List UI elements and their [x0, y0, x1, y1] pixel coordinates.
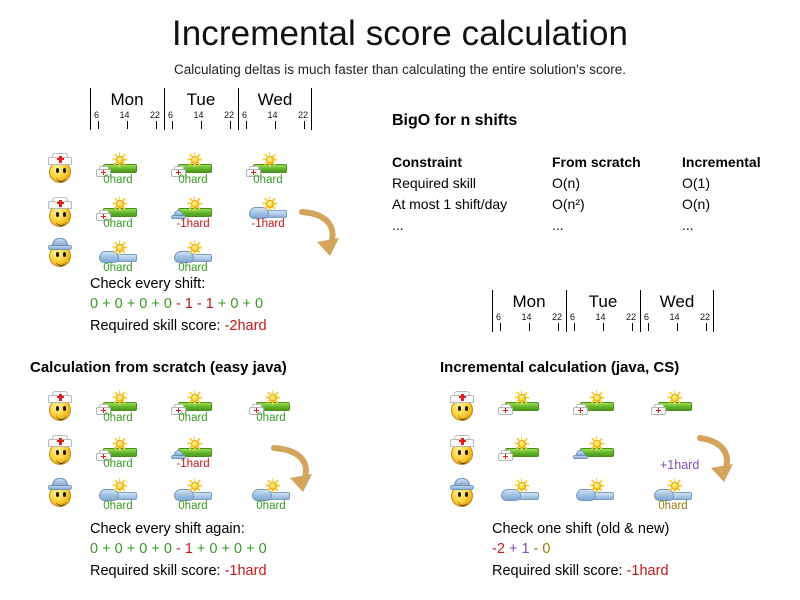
sum-token: + [243, 296, 251, 312]
calendar-day-name: Wed [640, 290, 714, 312]
calendar-hour-tick-label: 22 [150, 110, 160, 121]
employee-avatar-builder[interactable] [47, 234, 73, 267]
shift-chip[interactable] [497, 390, 543, 424]
calendar-day-tue: Tue61422 [164, 88, 238, 130]
calendar-ticks [90, 121, 164, 130]
skill-badge-nurse [573, 404, 588, 415]
calendar-day-wed: Wed61422 [640, 290, 714, 332]
sun-icon [112, 436, 127, 451]
calendar-day-name: Mon [492, 290, 566, 312]
shift-score-label: 0hard [95, 218, 141, 230]
check-every-shift-label: Check every shift: [90, 274, 205, 294]
shift-chip[interactable]: 0hard [95, 240, 141, 274]
shift-score-label: 0hard [95, 262, 141, 274]
sun-icon [112, 196, 127, 211]
calendar-day-mon: Mon61422 [90, 88, 164, 130]
sun-icon [112, 478, 127, 493]
sun-icon [589, 478, 604, 493]
sun-icon [262, 196, 277, 211]
calendar-hour-tick-label: 6 [570, 312, 575, 323]
shift-score-label: 0hard [650, 500, 696, 512]
score-label: Required skill score: [492, 563, 623, 579]
shift-chip[interactable] [497, 436, 543, 470]
score-value: -1hard [627, 563, 669, 579]
bigo-cell: ... [552, 215, 682, 236]
sum-token: 1 [185, 296, 193, 312]
sum-token: + [197, 541, 205, 557]
shift-chip[interactable]: 0hard [95, 478, 141, 512]
shift-chip[interactable]: 0hard [170, 390, 216, 424]
sum-token: + [151, 541, 159, 557]
nurse-hat-icon [48, 435, 72, 447]
sum-token: 0 [234, 541, 242, 557]
shift-chip[interactable] [572, 478, 618, 512]
bigo-cell: O(n) [682, 194, 792, 215]
calendar-day-name: Mon [90, 88, 164, 110]
shift-chip[interactable] [572, 436, 618, 470]
calendar-ticks [492, 323, 566, 332]
employee-avatar-nurse[interactable] [449, 432, 475, 465]
calendar-hour-tick-label: 22 [298, 110, 308, 121]
sum-token: - [176, 296, 181, 312]
sun-icon [262, 152, 277, 167]
bigo-row: ......... [392, 215, 792, 236]
calendar-day-wed: Wed61422 [238, 88, 312, 130]
shift-chip[interactable]: 0hard [245, 152, 291, 186]
nurse-hat-icon [48, 153, 72, 165]
shift-score-label: -1hard [170, 218, 216, 230]
hard-hat-icon [48, 238, 72, 250]
calendar-day-name: Tue [566, 290, 640, 312]
sun-icon [187, 152, 202, 167]
calendar-hour-tick-label: 14 [119, 110, 129, 121]
calendar-hour-tick-label: 22 [700, 312, 710, 323]
shift-score-label: 0hard [95, 174, 141, 186]
sun-icon [112, 152, 127, 167]
bigo-header-cell: From scratch [552, 152, 682, 173]
sun-icon [187, 478, 202, 493]
bigo-cell: O(n) [552, 173, 682, 194]
calendar-ticks [238, 121, 312, 130]
hard-hat-icon [48, 478, 72, 490]
calendar-header-top: Mon61422Tue61422Wed61422 [90, 88, 312, 130]
calendar-hour-tick-label: 22 [552, 312, 562, 323]
calendar-day-name: Wed [238, 88, 312, 110]
bigo-header-row: ConstraintFrom scratchIncremental [392, 152, 792, 173]
bigo-title: BigO for n shifts [392, 112, 517, 130]
calendar-hour-tick-label: 14 [193, 110, 203, 121]
shift-chip[interactable]: -1hard [245, 196, 291, 230]
shift-score-label: 0hard [95, 500, 141, 512]
calendar-hour-tick-label: 6 [644, 312, 649, 323]
sun-icon [187, 436, 202, 451]
sum-token: + [246, 541, 254, 557]
skill-badge-nurse [498, 404, 513, 415]
nurse-hat-icon [450, 435, 474, 447]
page-subtitle: Calculating deltas is much faster than c… [0, 62, 800, 77]
shift-chip[interactable]: -1hard [170, 436, 216, 470]
sum-token: 0 [164, 296, 172, 312]
shift-chip[interactable]: 0hard [170, 152, 216, 186]
calendar-hour-tick-label: 6 [242, 110, 247, 121]
calendar-hour-tick-label: 14 [267, 110, 277, 121]
shift-chip[interactable] [572, 390, 618, 424]
skill-badge-builder [573, 450, 588, 461]
calendar-day-tue: Tue61422 [566, 290, 640, 332]
bigo-cell: O(n²) [552, 194, 682, 215]
bigo-cell: At most 1 shift/day [392, 194, 552, 215]
shift-chip[interactable] [497, 478, 543, 512]
calendar-hour-tick-label: 22 [626, 312, 636, 323]
sum-token: 0 [115, 541, 123, 557]
nurse-hat-icon [450, 391, 474, 403]
calendar-day-name: Tue [164, 88, 238, 110]
bigo-cell: ... [682, 215, 792, 236]
sum-token: -2 [492, 541, 505, 557]
sum-token: + [102, 541, 110, 557]
bigo-header-cell: Constraint [392, 152, 552, 173]
employee-avatar-nurse[interactable] [47, 432, 73, 465]
shift-chip[interactable]: -1hard [170, 196, 216, 230]
score-label: Required skill score: [90, 563, 221, 579]
calendar-ticks [566, 323, 640, 332]
employee-avatar-nurse[interactable] [47, 150, 73, 183]
bigo-cell: ... [392, 215, 552, 236]
skill-badge-nurse [498, 450, 513, 461]
employee-avatar-builder[interactable] [47, 474, 73, 507]
calendar-hour-tick-label: 6 [496, 312, 501, 323]
sun-icon [514, 436, 529, 451]
sun-icon [187, 390, 202, 405]
shift-chip[interactable] [650, 390, 696, 424]
calendar-hour-tick-label: 6 [168, 110, 173, 121]
section-title-from-scratch: Calculation from scratch (easy java) [30, 359, 287, 376]
nurse-hat-icon [48, 197, 72, 209]
sun-icon [514, 478, 529, 493]
sum-token: 1 [206, 296, 214, 312]
check-every-shift-again-label: Check every shift again: [90, 519, 245, 539]
shift-chip[interactable]: 0hard [95, 436, 141, 470]
shift-score-label: 0hard [95, 458, 141, 470]
sum-token: + [509, 541, 517, 557]
calendar-day-mon: Mon61422 [492, 290, 566, 332]
score-sum-scratch: 0 + 0 + 0 + 0 - 1 + 0 + 0 + 0 [90, 539, 267, 559]
sun-icon [112, 240, 127, 255]
calendar-hour-tick-label: 22 [224, 110, 234, 121]
shift-score-label: 0hard [245, 174, 291, 186]
calendar-ticks [164, 121, 238, 130]
shift-chip[interactable]: 0hard [170, 240, 216, 274]
sun-icon [187, 240, 202, 255]
shift-score-label: -1hard [170, 458, 216, 470]
sum-token: - [534, 541, 539, 557]
shift-chip[interactable]: 0hard [95, 390, 141, 424]
shift-score-label: 0hard [170, 500, 216, 512]
bigo-header-cell: Incremental [682, 152, 792, 173]
sum-token: 1 [185, 541, 193, 557]
sum-token: 0 [255, 296, 263, 312]
calendar-header-bottom: Mon61422Tue61422Wed61422 [492, 290, 714, 332]
sum-token: + [127, 296, 135, 312]
shift-chip[interactable]: 0hard [95, 152, 141, 186]
sum-token: 0 [209, 541, 217, 557]
bigo-table: ConstraintFrom scratchIncrementalRequire… [392, 152, 792, 236]
shift-chip[interactable]: 0hard [650, 478, 696, 512]
calendar-hour-labels: 61422 [566, 312, 640, 323]
score-sum-top: 0 + 0 + 0 + 0 - 1 - 1 + 0 + 0 [90, 294, 263, 314]
employee-avatar-nurse[interactable] [47, 388, 73, 421]
shift-score-label: 0hard [248, 500, 294, 512]
sum-token: 0 [90, 541, 98, 557]
bigo-cell: Required skill [392, 173, 552, 194]
calendar-hour-labels: 61422 [492, 312, 566, 323]
sun-icon [667, 390, 682, 405]
sum-token: 0 [164, 541, 172, 557]
calendar-hour-labels: 61422 [164, 110, 238, 121]
bigo-cell: O(1) [682, 173, 792, 194]
required-skill-score-scratch: Required skill score: -1hard [90, 561, 267, 581]
sum-token: + [151, 296, 159, 312]
sum-token: + [222, 541, 230, 557]
section-title-incremental: Incremental calculation (java, CS) [440, 359, 679, 376]
shift-score-label: 0hard [248, 412, 294, 424]
shift-chip[interactable]: 0hard [170, 478, 216, 512]
score-value: -1hard [225, 563, 267, 579]
move-arrow-top [296, 206, 346, 262]
sun-icon [265, 390, 280, 405]
score-value: -2hard [225, 318, 267, 334]
sum-token: 1 [521, 541, 529, 557]
score-label: Required skill score: [90, 318, 221, 334]
shift-score-label: -1hard [245, 218, 291, 230]
required-skill-score-top: Required skill score: -2hard [90, 316, 267, 336]
shift-score-label: 0hard [170, 262, 216, 274]
sum-token: - [197, 296, 202, 312]
sum-token: 0 [90, 296, 98, 312]
sum-token: + [127, 541, 135, 557]
sum-token: 0 [542, 541, 550, 557]
shift-score-label: 0hard [170, 174, 216, 186]
sum-token: 0 [139, 296, 147, 312]
sun-icon [187, 196, 202, 211]
sun-icon [514, 390, 529, 405]
move-arrow-scratch [268, 440, 320, 498]
hard-hat-icon [450, 478, 474, 490]
sum-token: + [102, 296, 110, 312]
page-title: Incremental score calculation [0, 14, 800, 54]
bigo-row: At most 1 shift/dayO(n²)O(n) [392, 194, 792, 215]
sum-token: 0 [230, 296, 238, 312]
employee-avatar-nurse[interactable] [47, 194, 73, 227]
skill-badge-nurse [651, 404, 666, 415]
required-skill-score-incremental: Required skill score: -1hard [492, 561, 669, 581]
calendar-ticks [640, 323, 714, 332]
sum-token: 0 [115, 296, 123, 312]
sum-token: - [176, 541, 181, 557]
shift-score-label: 0hard [95, 412, 141, 424]
calendar-hour-tick-label: 14 [669, 312, 679, 323]
sun-icon [589, 436, 604, 451]
calendar-hour-labels: 61422 [90, 110, 164, 121]
sun-icon [589, 390, 604, 405]
move-arrow-incremental [692, 432, 740, 488]
shift-score-label: 0hard [170, 412, 216, 424]
bigo-row: Required skillO(n)O(1) [392, 173, 792, 194]
employee-avatar-nurse[interactable] [449, 388, 475, 421]
sum-token: 0 [139, 541, 147, 557]
calendar-hour-labels: 61422 [640, 312, 714, 323]
shift-chip[interactable]: 0hard [95, 196, 141, 230]
sun-icon [667, 478, 682, 493]
sum-token: 0 [259, 541, 267, 557]
sun-icon [112, 390, 127, 405]
calendar-hour-tick-label: 14 [521, 312, 531, 323]
shift-chip[interactable]: 0hard [248, 390, 294, 424]
calendar-hour-tick-label: 14 [595, 312, 605, 323]
sum-token: + [218, 296, 226, 312]
check-one-shift-label: Check one shift (old & new) [492, 519, 669, 539]
score-sum-incremental: -2 + 1 - 0 [492, 539, 551, 559]
calendar-hour-tick-label: 6 [94, 110, 99, 121]
calendar-hour-labels: 61422 [238, 110, 312, 121]
nurse-hat-icon [48, 391, 72, 403]
employee-avatar-builder[interactable] [449, 474, 475, 507]
